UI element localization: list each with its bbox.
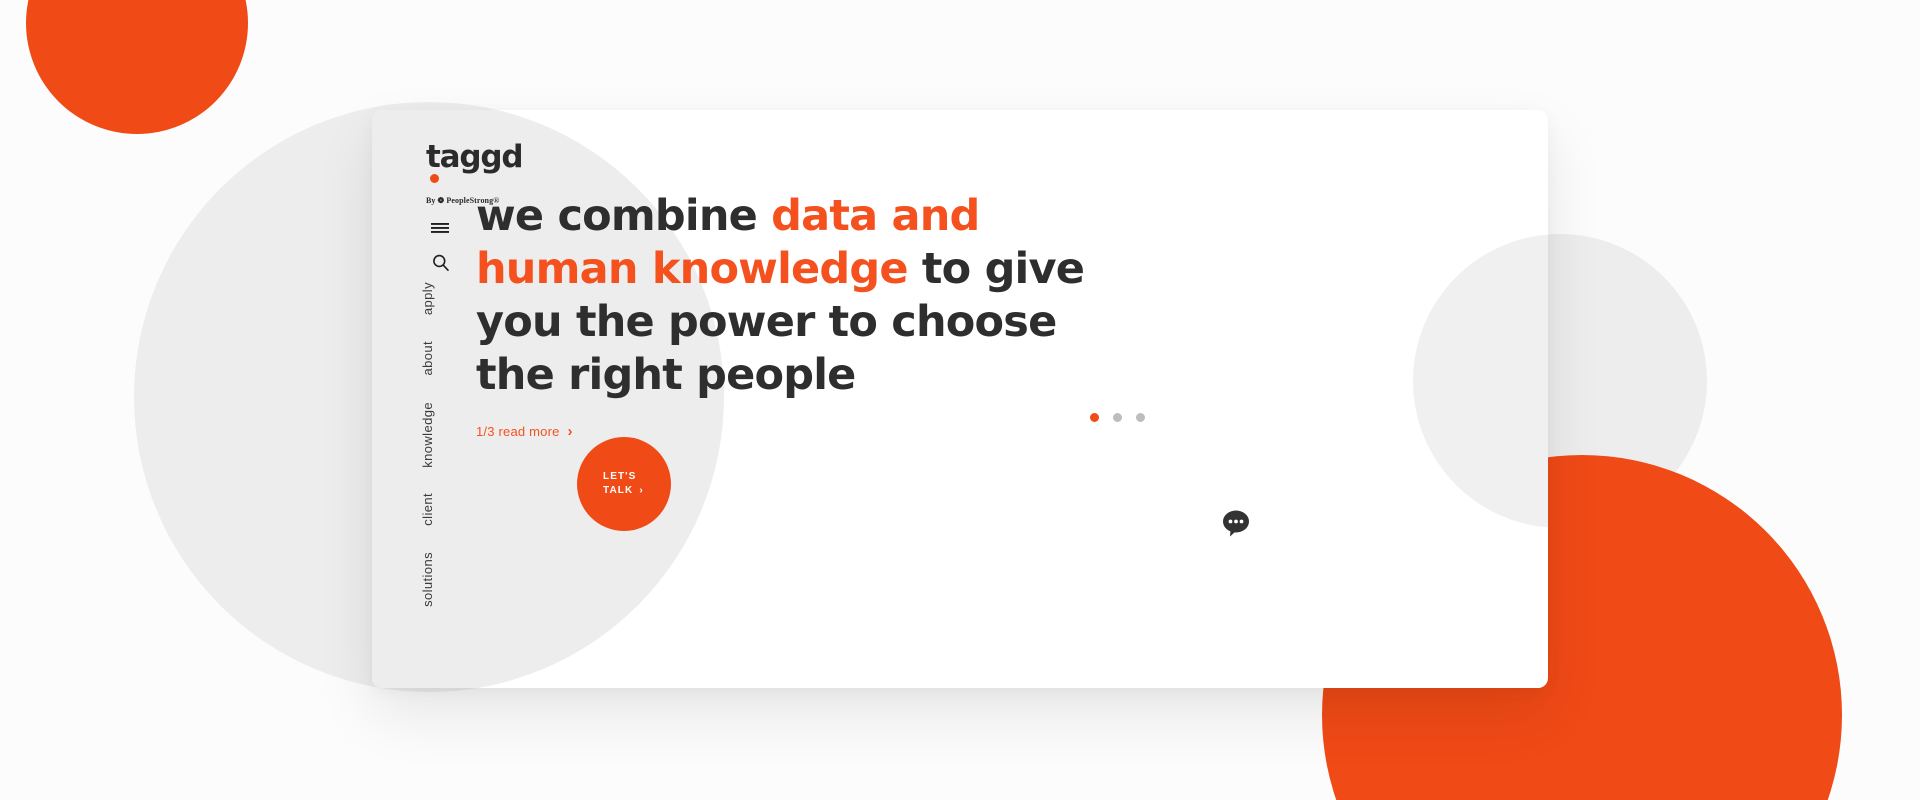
headline-segment-accent-1: data and bbox=[771, 191, 979, 241]
hero-card: taggd By ❁ PeopleStrong® bbox=[372, 110, 1548, 688]
read-more-label: 1/3 read more bbox=[476, 424, 560, 439]
sidebar: taggd By ❁ PeopleStrong® bbox=[372, 110, 482, 688]
sidebar-icon-group bbox=[430, 218, 452, 286]
lets-talk-button[interactable]: LET'S TALK › bbox=[577, 437, 671, 531]
headline-segment-plain-2: to give bbox=[908, 244, 1084, 294]
sidebar-vertical-nav: apply about knowledge client solutions bbox=[420, 282, 460, 633]
search-icon[interactable] bbox=[430, 252, 452, 274]
sidebar-item-client[interactable]: client bbox=[420, 493, 435, 526]
logo-dot-icon bbox=[430, 174, 439, 183]
headline-segment-plain-4: the right people bbox=[476, 350, 856, 400]
sidebar-item-apply[interactable]: apply bbox=[420, 282, 435, 315]
carousel-dots bbox=[1090, 413, 1145, 422]
lets-talk-line-2: TALK bbox=[603, 484, 633, 498]
sidebar-item-knowledge[interactable]: knowledge bbox=[420, 402, 435, 468]
chevron-right-icon: › bbox=[568, 424, 573, 439]
headline-segment-accent-2: human knowledge bbox=[476, 244, 908, 294]
logo-tagline-prefix: By bbox=[426, 196, 436, 205]
decorative-circle-orange-top-left bbox=[26, 0, 248, 134]
logo-text: taggd bbox=[426, 142, 522, 173]
chat-bubble-icon[interactable] bbox=[1217, 505, 1255, 543]
sidebar-item-about[interactable]: about bbox=[420, 341, 435, 376]
carousel-dot-3[interactable] bbox=[1136, 413, 1145, 422]
carousel-dot-1[interactable] bbox=[1090, 413, 1099, 422]
peoplestrong-mark-icon: ❁ bbox=[438, 197, 445, 205]
menu-icon[interactable] bbox=[430, 218, 452, 240]
read-more-link[interactable]: 1/3 read more › bbox=[476, 424, 573, 439]
hero-section: we combine data and human knowledge to g… bbox=[476, 190, 1116, 441]
lets-talk-line-1: LET'S bbox=[603, 470, 671, 484]
sidebar-item-solutions[interactable]: solutions bbox=[420, 552, 435, 607]
headline-segment-plain-3: you the power to choose bbox=[476, 297, 1056, 347]
carousel-dot-2[interactable] bbox=[1113, 413, 1122, 422]
chevron-right-icon: › bbox=[639, 484, 643, 498]
headline-segment-plain-1: we combine bbox=[476, 191, 771, 241]
hero-headline: we combine data and human knowledge to g… bbox=[476, 190, 1116, 402]
